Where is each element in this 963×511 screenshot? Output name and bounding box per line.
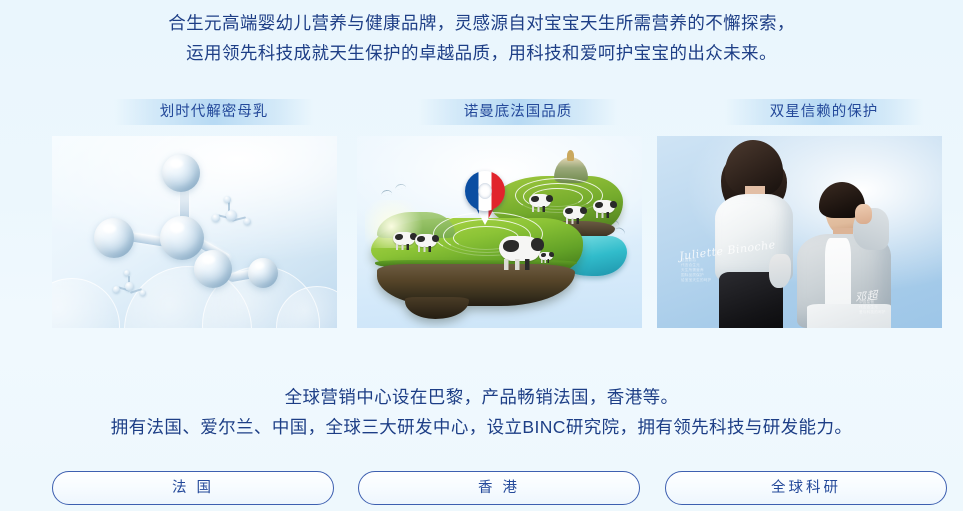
cow-icon [499, 236, 541, 261]
section-labels: 划时代解密母乳 诺曼底法国品质 双星信赖的保护 [52, 99, 947, 125]
cow-icon [593, 200, 615, 213]
cow-icon [415, 234, 437, 247]
island-card[interactable] [357, 136, 642, 328]
outro-paragraph: 全球营销中心设在巴黎，产品畅销法国，香港等。 拥有法国、爱尔兰、中国，全球三大研… [0, 382, 963, 442]
cow-icon [529, 194, 551, 207]
molecule-card[interactable] [52, 136, 337, 328]
molecule-atom [160, 216, 204, 260]
image-card-row: Juliette Binoche 法国影后 代言合生元 天生所需营养 国际品质保… [52, 136, 947, 328]
pill-button-row: 法 国 香 港 全球科研 [52, 471, 947, 505]
signature-note-right: 中国星爸 代言合生元 爱与科技的呵护 [859, 300, 886, 315]
map-pin-hole [478, 183, 492, 199]
bird-icon [395, 183, 407, 189]
france-flag-map-pin-icon [465, 171, 505, 227]
bird-icon [614, 226, 626, 235]
molecule-atom [94, 218, 134, 258]
bird-icon [381, 189, 393, 195]
outro-line-2: 拥有法国、爱尔兰、中国，全球三大研发中心，设立BINC研究院，拥有领先科技与研发… [0, 412, 963, 442]
pill-button-global-research[interactable]: 全球科研 [665, 471, 947, 505]
molecule-atom [162, 154, 200, 192]
calf-icon [539, 252, 553, 260]
intro-line-1: 合生元高端婴幼儿营养与健康品牌，灵感源自对宝宝天生所需营养的不懈探索， [0, 8, 963, 38]
section-label-normandy: 诺曼底法国品质 [418, 99, 618, 125]
outro-line-1: 全球营销中心设在巴黎，产品畅销法国，香港等。 [0, 382, 963, 412]
section-label-breastmilk: 划时代解密母乳 [114, 99, 314, 125]
signal-ring [515, 178, 603, 213]
molecule-atom [194, 250, 232, 288]
intro-line-2: 运用领先科技成就天生保护的卓越品质，用科技和爱呵护宝宝的出众未来。 [0, 38, 963, 68]
section-label-ambassadors: 双星信赖的保护 [724, 99, 924, 125]
pill-button-france[interactable]: 法 国 [52, 471, 334, 505]
molecule-atom [248, 258, 278, 288]
cow-icon [563, 206, 585, 219]
intro-paragraph: 合生元高端婴幼儿营养与健康品牌，灵感源自对宝宝天生所需营养的不懈探索， 运用领先… [0, 8, 963, 68]
signature-note-left: 法国影后 代言合生元 天生所需营养 国际品质保护 给宝宝天生的呵护 [681, 258, 711, 283]
ambassadors-card[interactable]: Juliette Binoche 法国影后 代言合生元 天生所需营养 国际品质保… [657, 136, 942, 328]
pill-button-hongkong[interactable]: 香 港 [358, 471, 640, 505]
floating-island [371, 172, 629, 290]
cow-icon [393, 232, 415, 245]
